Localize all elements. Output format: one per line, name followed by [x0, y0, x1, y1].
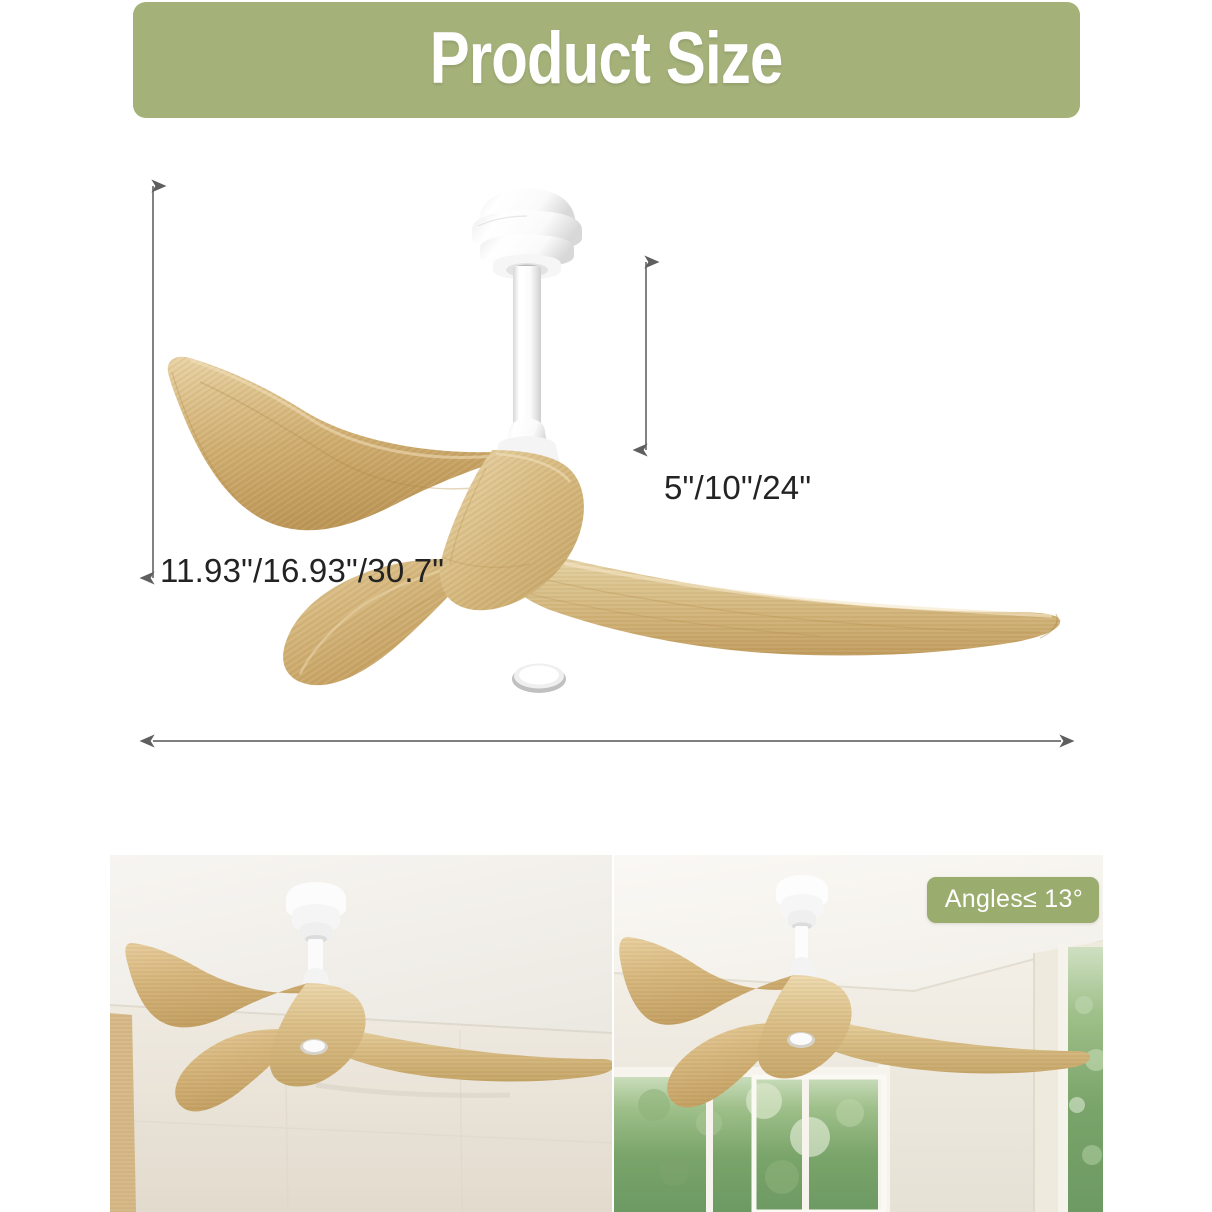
- page-title: Product Size: [430, 22, 783, 95]
- dimension-diagram-section: 11.93"/16.93"/30.7" 5"/10"/24" 52": [0, 120, 1212, 830]
- product-size-banner: Product Size: [133, 2, 1080, 118]
- downrod: [505, 266, 549, 456]
- product-size-infographic: Product Size: [0, 0, 1212, 1212]
- photo-fan-window-room: Angles≤ 13°: [614, 855, 1103, 1212]
- photo-fan-plain-wall: [110, 855, 612, 1212]
- ceiling-fan-illustration: [0, 120, 1212, 830]
- downrod-dimension-label: 5"/10"/24": [664, 469, 811, 507]
- height-dimension-label: 11.93"/16.93"/30.7": [160, 552, 444, 590]
- lifestyle-photos: Angles≤ 13°: [0, 855, 1212, 1212]
- angles-badge: Angles≤ 13°: [927, 877, 1099, 923]
